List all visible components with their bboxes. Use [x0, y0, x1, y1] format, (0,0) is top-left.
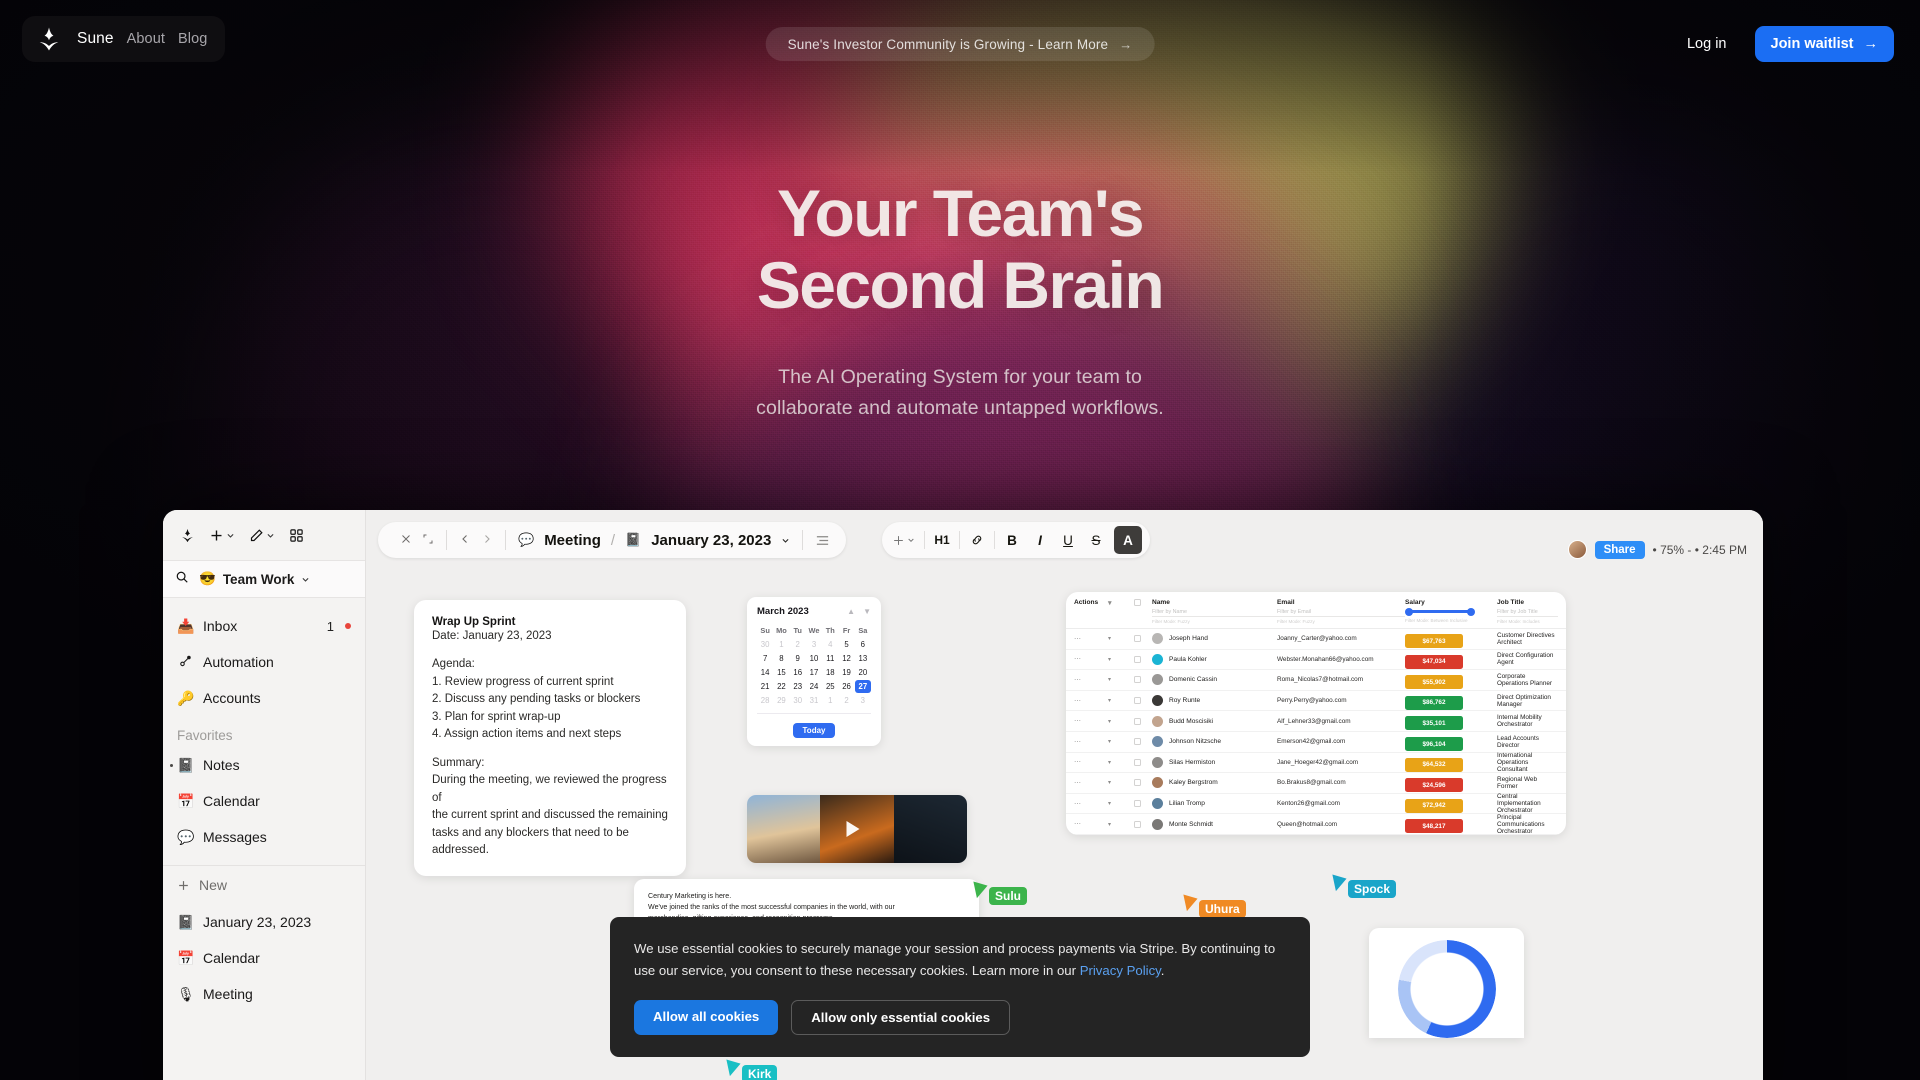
cursor-pointer-icon	[726, 1057, 742, 1076]
row-checkbox[interactable]	[1134, 779, 1152, 786]
join-waitlist-label: Join waitlist	[1771, 36, 1854, 52]
row-checkbox[interactable]	[1134, 676, 1152, 683]
salary-filter-mode: Filter Mode: Between Inclusive	[1405, 618, 1497, 623]
row-actions-button[interactable]: ⋯	[1074, 758, 1108, 766]
sidebar-item-accounts[interactable]: 🔑 Accounts	[163, 680, 365, 716]
sidebar-item-label: Meeting	[203, 986, 351, 1002]
cookie-text-part-2: .	[1161, 963, 1165, 978]
breadcrumb-root-emoji: 💬	[518, 532, 534, 548]
cursor-pointer-icon	[973, 879, 989, 898]
calendar-day[interactable]: 10	[806, 652, 822, 665]
join-waitlist-button[interactable]: Join waitlist →	[1755, 26, 1895, 62]
note-agenda-item: 4. Assign action items and next steps	[432, 726, 668, 743]
calendar-day[interactable]: 26	[838, 680, 854, 693]
sparkle-icon[interactable]	[175, 524, 200, 547]
cell-email: Webster.Monahan66@yahoo.com	[1277, 656, 1405, 663]
calendar-day[interactable]: 2	[790, 638, 806, 651]
calendar-day[interactable]: 1	[822, 694, 838, 707]
calendar-day[interactable]: 29	[773, 694, 789, 707]
table-row[interactable]: ⋯▾Roy RuntePerry.Perry@yahoo.com$86,762D…	[1066, 691, 1566, 712]
pencil-icon[interactable]	[244, 524, 280, 547]
avatar	[1152, 633, 1163, 644]
cell-job-title: Direct Optimization Manager	[1497, 694, 1558, 708]
note-summary-label: Summary:	[432, 755, 668, 772]
name-filter-input[interactable]: Filter by Name	[1152, 609, 1277, 617]
messages-icon: 💬	[177, 829, 194, 846]
announcement-banner[interactable]: Sune's Investor Community is Growing - L…	[766, 27, 1155, 61]
sidebar-item-label: Accounts	[203, 690, 351, 706]
note-summary-line: the current sprint and discussed the rem…	[432, 807, 668, 824]
calendar-day-selected[interactable]: 27	[855, 680, 871, 693]
calendar-day[interactable]: 19	[838, 666, 854, 679]
calendar-day[interactable]: 12	[838, 652, 854, 665]
collaborator-name-tag: Spock	[1348, 880, 1396, 898]
arrow-right-icon: →	[1864, 36, 1879, 52]
sidebar-item-notes[interactable]: 📓 Notes	[163, 747, 365, 783]
chevron-up-icon[interactable]: ▲	[847, 607, 855, 616]
cell-salary: $35,101	[1405, 712, 1497, 731]
cell-name: Budd Moscisiki	[1152, 716, 1277, 727]
note-summary-line: During the meeting, we reviewed the prog…	[432, 772, 668, 807]
list-icon[interactable]	[805, 534, 840, 547]
link-button[interactable]	[963, 526, 991, 554]
add-icon	[177, 879, 190, 892]
cell-job-title: Customer Directives Architect	[1497, 632, 1558, 646]
nav-link-about[interactable]: About	[127, 31, 165, 47]
bold-button[interactable]: B	[998, 526, 1026, 554]
key-icon: 🔑	[177, 690, 194, 707]
unread-dot-icon	[345, 623, 351, 629]
calendar-day[interactable]: 3	[855, 694, 871, 707]
sidebar-item-label: January 23, 2023	[203, 914, 351, 930]
employees-table-card[interactable]: Actions ▾ Name Filter by Name Filter Mod…	[1066, 592, 1566, 835]
hero-title-line-2: Second Brain	[0, 252, 1920, 319]
note-agenda-item: 1. Review progress of current sprint	[432, 674, 668, 691]
calendar-day[interactable]: 24	[806, 680, 822, 693]
calendar-dow: We	[806, 624, 822, 637]
calendar-day[interactable]: 8	[773, 652, 789, 665]
avatar[interactable]	[1568, 540, 1587, 559]
cell-name: Paula Kohler	[1152, 654, 1277, 665]
login-button[interactable]: Log in	[1677, 30, 1737, 58]
calendar-day[interactable]: 2	[838, 694, 854, 707]
collaborator-name-tag: Kirk	[742, 1065, 777, 1080]
nav-link-blog[interactable]: Blog	[178, 31, 207, 47]
column-header-actions: Actions	[1074, 599, 1108, 606]
doc-line: Century Marketing is here.	[648, 891, 965, 902]
collaborator-cursor: Uhura	[1185, 893, 1246, 918]
cell-salary: $47,034	[1405, 650, 1497, 669]
calendar-day[interactable]: 9	[790, 652, 806, 665]
calendar-icon: 📅	[177, 950, 194, 967]
status-text: • 75% - • 2:45 PM	[1653, 543, 1747, 557]
grid-icon[interactable]	[284, 524, 309, 547]
row-actions-button[interactable]: ⋯	[1074, 655, 1108, 663]
job-title-filter-input[interactable]: Filter by Job Title	[1497, 609, 1558, 617]
row-checkbox[interactable]	[1134, 656, 1152, 663]
chevron-down-icon[interactable]: ▾	[1108, 821, 1134, 828]
today-button[interactable]: Today	[793, 723, 836, 738]
arrow-right-icon: →	[1119, 37, 1132, 52]
chevron-down-icon[interactable]: ▾	[1108, 656, 1134, 663]
cookie-text-part-1: We use essential cookies to securely man…	[634, 941, 1275, 977]
heading-1-button[interactable]: H1	[928, 526, 956, 554]
collaborator-name-tag: Uhura	[1199, 900, 1246, 918]
calendar-day[interactable]: 25	[822, 680, 838, 693]
table-row[interactable]: ⋯▾Johnson NitzscheEmerson42@gmail.com$96…	[1066, 732, 1566, 753]
cell-job-title: Central Implementation Orchestrator	[1497, 793, 1558, 814]
calendar-dow: Sa	[855, 624, 871, 637]
cell-email: Jane_Hoeger42@gmail.com	[1277, 759, 1405, 766]
close-icon[interactable]	[400, 533, 412, 548]
calendar-day[interactable]: 4	[822, 638, 838, 651]
note-date: Date: January 23, 2023	[432, 628, 668, 645]
notes-icon: 📓	[177, 914, 194, 931]
row-checkbox[interactable]	[1134, 800, 1152, 807]
avatar	[1152, 798, 1163, 809]
notes-icon: 📓	[177, 757, 194, 774]
calendar-dow: Th	[822, 624, 838, 637]
media-preview-card[interactable]	[747, 795, 967, 863]
sidebar-search-row[interactable]: 😎 Team Work	[163, 560, 365, 598]
hero-subtitle-line-2: collaborate and automate untapped workfl…	[756, 397, 1164, 419]
row-checkbox[interactable]	[1134, 759, 1152, 766]
row-actions-button[interactable]: ⋯	[1074, 800, 1108, 808]
donut-chart	[1398, 940, 1496, 1038]
sidebar-item-label: Automation	[203, 654, 351, 670]
privacy-policy-link[interactable]: Privacy Policy	[1080, 963, 1161, 978]
collaborator-cursor: Spock	[1334, 873, 1396, 898]
cell-salary: $64,532	[1405, 753, 1497, 772]
calendar-day[interactable]: 20	[855, 666, 871, 679]
column-header-name[interactable]: Name	[1152, 599, 1277, 606]
calendar-day[interactable]: 3	[806, 638, 822, 651]
breadcrumb-root-label[interactable]: Meeting	[544, 532, 601, 549]
doc-line: We've joined the ranks of the most succe…	[648, 902, 965, 913]
microphone-icon: 🎙	[177, 986, 194, 1003]
calendar-day[interactable]: 30	[790, 694, 806, 707]
calendar-day[interactable]: 21	[757, 680, 773, 693]
wrap-up-sprint-note-card[interactable]: Wrap Up Sprint Date: January 23, 2023 Ag…	[414, 600, 686, 876]
row-actions-button[interactable]: ⋯	[1074, 676, 1108, 684]
avatar	[1152, 736, 1163, 747]
chevron-down-icon[interactable]: ▾	[1108, 738, 1134, 745]
share-button[interactable]: Share	[1595, 541, 1645, 559]
allow-all-cookies-button[interactable]: Allow all cookies	[634, 1000, 778, 1035]
avatar	[1152, 674, 1163, 685]
row-checkbox[interactable]	[1134, 738, 1152, 745]
inbox-icon: 📥	[177, 618, 194, 635]
sidebar-item-calendar[interactable]: 📅 Calendar	[163, 783, 365, 819]
main-navigation: Sune About Blog	[22, 16, 225, 62]
calendar-day[interactable]: 1	[773, 638, 789, 651]
row-actions-button[interactable]: ⋯	[1074, 779, 1108, 787]
cell-job-title: Principal Communications Orchestrator	[1497, 814, 1558, 835]
table-row[interactable]: ⋯▾Joseph HandJoanny_Carter@yahoo.com$67,…	[1066, 629, 1566, 650]
active-bullet-icon	[170, 764, 173, 767]
calendar-day[interactable]: 15	[773, 666, 789, 679]
chevron-down-icon	[301, 575, 310, 584]
calendar-day[interactable]: 14	[757, 666, 773, 679]
sidebar-doc-calendar[interactable]: 📅 Calendar	[163, 940, 365, 976]
avatar	[1152, 777, 1163, 788]
table-row[interactable]: ⋯▾Lilian TrompKenton26@gmail.com$72,942C…	[1066, 794, 1566, 815]
row-actions-button[interactable]: ⋯	[1074, 697, 1108, 705]
cell-salary: $24,596	[1405, 774, 1497, 793]
sidebar-item-inbox[interactable]: 📥 Inbox 1	[163, 608, 365, 644]
add-icon[interactable]	[204, 524, 240, 547]
hero-title-line-1: Your Team's	[777, 176, 1143, 250]
chevron-down-icon[interactable]: ▾	[1108, 779, 1134, 786]
calendar-day[interactable]: 6	[855, 638, 871, 651]
note-summary-line: tasks and any blockers that need to be	[432, 825, 668, 842]
calendar-day[interactable]: 28	[757, 694, 773, 707]
table-row[interactable]: ⋯▾Budd MoscisikiAlf_Lehner33@gmail.com$3…	[1066, 711, 1566, 732]
calendar-widget-card[interactable]: March 2023 ▲ ▼ SuMoTuWeThFrSa30123456789…	[747, 597, 881, 746]
calendar-dow: Su	[757, 624, 773, 637]
sidebar-nav-list: 📥 Inbox 1 Automation 🔑 Accounts Favorite…	[163, 598, 365, 1012]
avatar	[1152, 695, 1163, 706]
calendar-day[interactable]: 13	[855, 652, 871, 665]
chevron-left-icon[interactable]	[459, 533, 471, 548]
table-row[interactable]: ⋯▾Paula KohlerWebster.Monahan66@yahoo.co…	[1066, 650, 1566, 671]
cursor-pointer-icon	[1183, 892, 1199, 911]
brand-name[interactable]: Sune	[77, 30, 114, 48]
calendar-dow: Mo	[773, 624, 789, 637]
table-row[interactable]: ⋯▾Monte SchmidtQueen@hotmail.com$48,217P…	[1066, 814, 1566, 835]
sidebar-item-label: Inbox	[203, 618, 318, 634]
workspace-label: Team Work	[223, 572, 295, 587]
breadcrumb-doc-label[interactable]: January 23, 2023	[651, 532, 771, 549]
calendar-dow: Tu	[790, 624, 806, 637]
chevron-down-icon[interactable]: ▾	[1108, 759, 1134, 766]
new-item-button[interactable]: New	[163, 866, 365, 904]
automation-icon	[177, 654, 194, 671]
cell-job-title: Corporate Operations Planner	[1497, 673, 1558, 687]
calendar-day[interactable]: 30	[757, 638, 773, 651]
collaborator-name-tag: Sulu	[989, 887, 1027, 905]
media-thumb	[894, 795, 967, 863]
calendar-icon: 📅	[177, 793, 194, 810]
name-filter-mode: Filter Mode: Fuzzy	[1152, 619, 1277, 624]
chevron-right-icon[interactable]	[481, 533, 493, 548]
breadcrumb[interactable]: 💬 Meeting / 📓 January 23, 2023	[508, 532, 800, 549]
salary-range-slider[interactable]	[1409, 610, 1471, 613]
breadcrumb-doc-emoji: 📓	[625, 532, 641, 548]
cell-job-title: Internal Mobility Orchestrator	[1497, 714, 1558, 728]
media-thumb	[747, 795, 820, 863]
cookie-message: We use essential cookies to securely man…	[634, 938, 1286, 981]
hero-subtitle: The AI Operating System for your team to…	[0, 362, 1920, 425]
announcement-text: Sune's Investor Community is Growing - L…	[788, 37, 1109, 52]
search-icon[interactable]	[175, 570, 189, 589]
italic-button[interactable]: I	[1026, 526, 1054, 554]
row-actions-button[interactable]: ⋯	[1074, 738, 1108, 746]
cell-name: Monte Schmidt	[1152, 819, 1277, 830]
cell-name: Johnson Nitzsche	[1152, 736, 1277, 747]
cell-job-title: Direct Configuration Agent	[1497, 652, 1558, 666]
email-filter-input[interactable]: Filter by Email	[1277, 609, 1405, 617]
cell-name: Domenic Cassin	[1152, 674, 1277, 685]
calendar-day[interactable]: 11	[822, 652, 838, 665]
row-checkbox[interactable]	[1134, 697, 1152, 704]
note-agenda-item: 3. Plan for sprint wrap-up	[432, 709, 668, 726]
cell-email: Alf_Lehner33@gmail.com	[1277, 718, 1405, 725]
text-color-button[interactable]: A	[1114, 526, 1142, 554]
calendar-day[interactable]: 17	[806, 666, 822, 679]
row-actions-button[interactable]: ⋯	[1074, 717, 1108, 725]
column-header-salary[interactable]: Salary	[1405, 599, 1497, 606]
table-body: ⋯▾Joseph HandJoanny_Carter@yahoo.com$67,…	[1066, 629, 1566, 835]
row-checkbox[interactable]	[1134, 718, 1152, 725]
table-row[interactable]: ⋯▾Domenic CassinRoma_Nicolas7@hotmail.co…	[1066, 670, 1566, 691]
calendar-day[interactable]: 7	[757, 652, 773, 665]
hero-subtitle-line-1: The AI Operating System for your team to	[778, 366, 1142, 388]
workspace-selector[interactable]: 😎 Team Work	[199, 571, 310, 587]
cell-email: Kenton26@gmail.com	[1277, 800, 1405, 807]
strikethrough-button[interactable]: S	[1082, 526, 1110, 554]
hero-section: Your Team's Second Brain The AI Operatin…	[0, 180, 1920, 425]
nav-actions: Log in Join waitlist →	[1677, 26, 1894, 62]
sidebar-item-messages[interactable]: 💬 Messages	[163, 819, 365, 855]
cell-email: Queen@hotmail.com	[1277, 821, 1405, 828]
sidebar-item-label: Notes	[203, 757, 351, 773]
row-actions-button[interactable]: ⋯	[1074, 635, 1108, 643]
cell-name: Lilian Tromp	[1152, 798, 1277, 809]
table-row[interactable]: ⋯▾Silas HermistonJane_Hoeger42@gmail.com…	[1066, 753, 1566, 774]
note-title: Wrap Up Sprint	[432, 616, 668, 628]
cell-name: Roy Runte	[1152, 695, 1277, 706]
cell-salary: $55,902	[1405, 671, 1497, 690]
allow-essential-cookies-button[interactable]: Allow only essential cookies	[791, 1000, 1010, 1035]
collaborator-cursor: Kirk	[728, 1058, 777, 1080]
app-topbar: 💬 Meeting / 📓 January 23, 2023	[366, 522, 1763, 562]
sidebar-item-label: Calendar	[203, 793, 351, 809]
table-header-row: Actions ▾ Name Filter by Name Filter Mod…	[1066, 592, 1566, 629]
sidebar-toolbar	[163, 510, 365, 560]
chevron-down-icon[interactable]: ▾	[1108, 800, 1134, 807]
calendar-dow: Fr	[838, 624, 854, 637]
cell-job-title: Regional Web Former	[1497, 776, 1558, 790]
page-root: Sune About Blog Sune's Investor Communit…	[0, 0, 1920, 1080]
column-header-email[interactable]: Email	[1277, 599, 1405, 606]
chevron-down-icon[interactable]: ▾	[1108, 718, 1134, 725]
sidebar-doc-meeting[interactable]: 🎙 Meeting	[163, 976, 365, 1012]
calendar-day[interactable]: 31	[806, 694, 822, 707]
cell-name: Kaley Bergstrom	[1152, 777, 1277, 788]
collaborator-cursor: Sulu	[975, 880, 1027, 905]
sidebar-item-automation[interactable]: Automation	[163, 644, 365, 680]
cell-salary: $96,104	[1405, 733, 1497, 752]
donut-chart-card[interactable]	[1369, 928, 1524, 1038]
app-sidebar: 😎 Team Work 📥 Inbox 1 Automation	[163, 510, 366, 1080]
cell-job-title: International Operations Consultant	[1497, 752, 1558, 773]
row-actions-button[interactable]: ⋯	[1074, 820, 1108, 828]
table-row[interactable]: ⋯▾Kaley BergstromBo.Brakus8@gmail.com$24…	[1066, 773, 1566, 794]
cell-salary: $67,763	[1405, 630, 1497, 649]
sidebar-item-label: Calendar	[203, 950, 351, 966]
avatar	[1152, 819, 1163, 830]
inbox-count-badge: 1	[327, 619, 334, 634]
cell-name: Joseph Hand	[1152, 633, 1277, 644]
cookie-consent-banner: We use essential cookies to securely man…	[610, 917, 1310, 1057]
workspace-emoji: 😎	[199, 571, 216, 587]
sparkle-icon[interactable]	[34, 24, 64, 54]
calendar-month-title: March 2023	[757, 606, 809, 617]
cell-salary: $86,762	[1405, 691, 1497, 710]
calendar-day[interactable]: 23	[790, 680, 806, 693]
page-title: Your Team's Second Brain	[0, 180, 1920, 320]
row-checkbox[interactable]	[1134, 821, 1152, 828]
cell-job-title: Lead Accounts Director	[1497, 735, 1558, 749]
calendar-day[interactable]: 16	[790, 666, 806, 679]
sidebar-doc-january-23-2023[interactable]: 📓 January 23, 2023	[163, 904, 365, 940]
cell-email: Emerson42@gmail.com	[1277, 738, 1405, 745]
breadcrumb-separator: /	[611, 532, 615, 549]
note-agenda-item: 2. Discuss any pending tasks or blockers	[432, 691, 668, 708]
chevron-down-icon[interactable]: ▾	[1108, 635, 1134, 642]
chevron-down-icon	[781, 536, 790, 545]
insert-block-button[interactable]	[886, 526, 921, 554]
note-summary-line: addressed.	[432, 842, 668, 859]
cell-name: Silas Hermiston	[1152, 757, 1277, 768]
cell-email: Bo.Brakus8@gmail.com	[1277, 779, 1405, 786]
formatting-toolbar: H1 B I U S A	[882, 522, 1150, 558]
cell-salary: $48,217	[1405, 815, 1497, 834]
email-filter-mode: Filter Mode: Fuzzy	[1277, 619, 1405, 624]
new-item-label: New	[199, 877, 227, 893]
favorites-section-header: Favorites	[163, 716, 365, 747]
chevron-down-icon[interactable]: ▾	[1108, 676, 1134, 683]
breadcrumb-bar: 💬 Meeting / 📓 January 23, 2023	[378, 522, 846, 558]
expand-icon[interactable]	[422, 533, 434, 548]
cursor-pointer-icon	[1332, 872, 1348, 891]
row-checkbox[interactable]	[1134, 635, 1152, 642]
play-icon[interactable]	[846, 821, 859, 837]
cell-email: Roma_Nicolas7@hotmail.com	[1277, 676, 1405, 683]
topbar-right-status: Share • 75% - • 2:45 PM	[1568, 540, 1747, 559]
cell-email: Perry.Perry@yahoo.com	[1277, 697, 1405, 704]
avatar	[1152, 716, 1163, 727]
job-title-filter-mode: Filter Mode: Includes	[1497, 619, 1558, 624]
chevron-down-icon[interactable]: ▼	[863, 607, 871, 616]
avatar	[1152, 654, 1163, 665]
underline-button[interactable]: U	[1054, 526, 1082, 554]
avatar	[1152, 757, 1163, 768]
chevron-down-icon[interactable]: ▾	[1108, 697, 1134, 704]
calendar-day[interactable]: 22	[773, 680, 789, 693]
sidebar-item-label: Messages	[203, 829, 351, 845]
cell-email: Joanny_Carter@yahoo.com	[1277, 635, 1405, 642]
note-agenda-label: Agenda:	[432, 656, 668, 673]
calendar-grid[interactable]: SuMoTuWeThFrSa30123456789101112131415161…	[757, 624, 871, 707]
cell-salary: $72,942	[1405, 794, 1497, 813]
calendar-day[interactable]: 5	[838, 638, 854, 651]
column-header-job-title[interactable]: Job Title	[1497, 599, 1558, 606]
calendar-day[interactable]: 18	[822, 666, 838, 679]
